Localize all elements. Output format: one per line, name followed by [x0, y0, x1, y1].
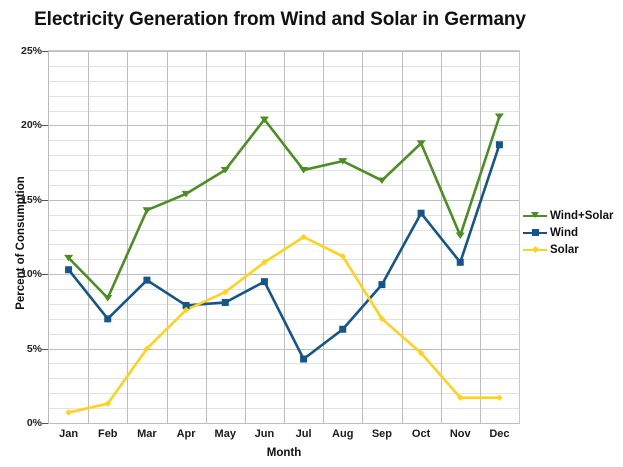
x-tick-label: Nov: [450, 428, 471, 440]
legend-marker-icon: [532, 246, 539, 253]
x-tick-label: Oct: [412, 428, 430, 440]
legend-label: Wind: [550, 227, 578, 239]
data-point-marker: [222, 299, 229, 306]
chart-legend: Wind+SolarWindSolar: [523, 207, 623, 258]
y-tick-label: 5%: [0, 343, 42, 355]
legend-item[interactable]: Wind+Solar: [523, 207, 623, 224]
data-point-marker: [456, 233, 465, 240]
legend-swatch: [523, 226, 547, 239]
series-lines: [49, 51, 519, 423]
chart-title: Electricity Generation from Wind and Sol…: [0, 9, 560, 31]
legend-item[interactable]: Wind: [523, 224, 623, 241]
data-point-marker: [457, 259, 464, 266]
x-tick-label: May: [215, 428, 236, 440]
y-axis-title: Percent of Consumption: [15, 148, 27, 338]
legend-marker-icon: [532, 229, 539, 236]
data-point-marker: [65, 266, 72, 273]
data-point-marker: [496, 141, 503, 148]
legend-swatch: [523, 243, 547, 256]
x-tick-label: Jan: [59, 428, 78, 440]
data-point-marker: [377, 177, 386, 184]
data-point-marker: [142, 207, 151, 214]
x-tick-label: Jun: [255, 428, 275, 440]
x-tick-label: Mar: [137, 428, 157, 440]
data-point-marker: [300, 356, 307, 363]
x-tick-label: Dec: [489, 428, 509, 440]
legend-item[interactable]: Solar: [523, 241, 623, 258]
x-tick-label: Sep: [372, 428, 392, 440]
legend-label: Solar: [550, 244, 579, 256]
y-tick-label: 25%: [0, 45, 42, 57]
y-tick-label: 20%: [0, 119, 42, 131]
gridline-major: [49, 423, 519, 424]
data-point-marker: [104, 315, 111, 322]
y-tick-label: 0%: [0, 417, 42, 429]
data-point-marker: [103, 295, 112, 302]
data-point-marker: [143, 277, 150, 284]
data-point-marker: [496, 395, 502, 401]
x-tick-label: Jul: [296, 428, 312, 440]
data-point-marker: [261, 278, 268, 285]
data-point-marker: [339, 326, 346, 333]
data-point-marker: [418, 210, 425, 217]
data-point-marker: [378, 281, 385, 288]
legend-swatch: [523, 209, 547, 222]
x-tick-label: Aug: [332, 428, 353, 440]
data-point-marker: [65, 409, 71, 415]
x-tick-label: Apr: [177, 428, 196, 440]
x-axis-title: Month: [48, 447, 520, 459]
legend-label: Wind+Solar: [550, 210, 613, 222]
series-line: [69, 237, 500, 413]
series-line: [69, 116, 500, 298]
data-point-marker: [495, 113, 504, 120]
chart-figure: Electricity Generation from Wind and Sol…: [0, 0, 623, 467]
plot-area: [48, 50, 520, 424]
x-tick-label: Feb: [98, 428, 118, 440]
legend-marker-icon: [531, 212, 539, 218]
